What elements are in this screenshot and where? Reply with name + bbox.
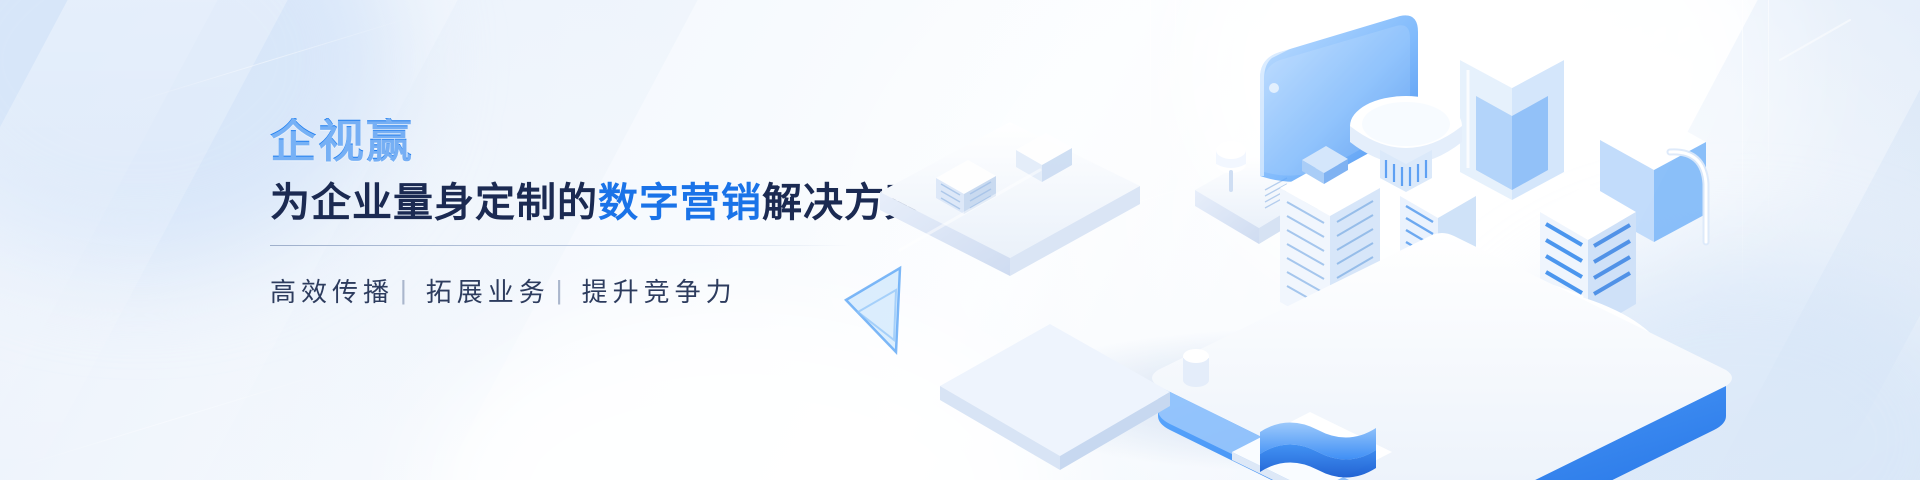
divider-rule: [270, 245, 850, 246]
tagline-item-1: 高效传播: [270, 272, 394, 309]
bg-stripe-2: [126, 16, 413, 105]
glass-tube: [1460, 32, 1564, 200]
dome-disc: [1350, 96, 1462, 192]
tagline-separator-2: |: [556, 275, 568, 306]
indicator-dots: [1606, 25, 1690, 46]
headline-highlight: 数字营销: [598, 181, 762, 225]
wire-triangle: [846, 268, 900, 352]
marketing-hero-banner: 企视赢 为企业量身定制的数字营销解决方案 高效传播 | 拓展业务 | 提升竞争力: [0, 0, 1920, 480]
bg-diagonal-1: [0, 0, 239, 480]
bg-diagonal-2: [0, 0, 309, 480]
small-device-board: [880, 122, 1140, 276]
tagline-item-3: 提升竞争力: [582, 272, 737, 309]
headline-part-before: 为企业量身定制的: [270, 181, 598, 225]
platform-peg: [1183, 349, 1209, 387]
tagline-item-2: 拓展业务: [426, 272, 550, 309]
tagline-separator-1: |: [400, 275, 412, 306]
bg-stripe-3: [7, 370, 332, 470]
isometric-illustration: [840, 0, 1920, 480]
